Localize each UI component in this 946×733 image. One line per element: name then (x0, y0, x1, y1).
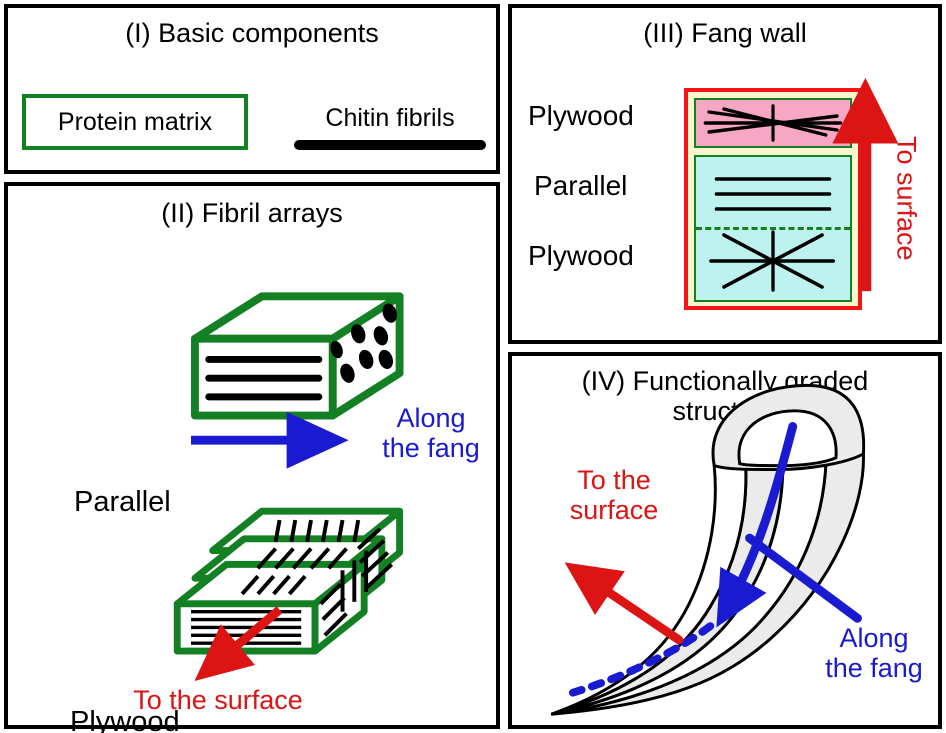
to-surface-label-iii: To surface (886, 88, 926, 308)
fang-wall-stack (684, 88, 862, 310)
panel-2-title: (II) Fibril arrays (8, 198, 496, 228)
chitin-fibrils-legend: Chitin fibrils (292, 104, 488, 150)
figure-canvas: (I) Basic components Protein matrix Chit… (0, 0, 946, 733)
wall-band-parallel-and-plywood (694, 155, 852, 302)
parallel-array-label: Parallel (74, 486, 171, 519)
parallel-fibril-box-icon (195, 296, 400, 415)
wall-band-plywood-outer (694, 98, 852, 148)
panel-1-title: (I) Basic components (8, 18, 496, 48)
wall-row-label-plywood-outer: Plywood (528, 100, 634, 132)
wall-row-label-parallel: Parallel (534, 170, 627, 202)
parallel-lines-group (716, 179, 829, 209)
to-the-surface-note-iv: To the surface (534, 466, 694, 525)
protein-matrix-legend-box: Protein matrix (22, 94, 248, 150)
to-the-surface-arrow-iv (581, 573, 679, 640)
protein-matrix-label: Protein matrix (58, 108, 212, 137)
panel-3-title: (III) Fang wall (512, 18, 938, 48)
panel-basic-components: (I) Basic components Protein matrix Chit… (4, 4, 500, 174)
along-the-fang-note-ii: Along the fang (366, 404, 496, 463)
along-the-fang-note-iv: Along the fang (804, 624, 944, 683)
wall-row-label-plywood-inner: Plywood (528, 240, 634, 272)
chitin-fibrils-label: Chitin fibrils (292, 104, 488, 133)
plywood-fibril-box-icon (177, 511, 399, 651)
plywood-flat-asterisk-icon (696, 100, 850, 146)
chitin-fibril-bar-icon (294, 140, 486, 150)
panel-functionally-graded-structure: (IV) Functionally graded structure To th… (508, 352, 942, 729)
panel-fibril-arrays: (II) Fibril arrays Parallel Plywood Alon… (4, 182, 500, 729)
panel-fang-wall: (III) Fang wall Plywood Parallel Plywood (508, 4, 942, 344)
plywood-asterisk-group (711, 232, 833, 290)
parallel-plywood-divider-icon (696, 227, 850, 230)
to-the-surface-note-ii: To the surface (68, 686, 368, 716)
